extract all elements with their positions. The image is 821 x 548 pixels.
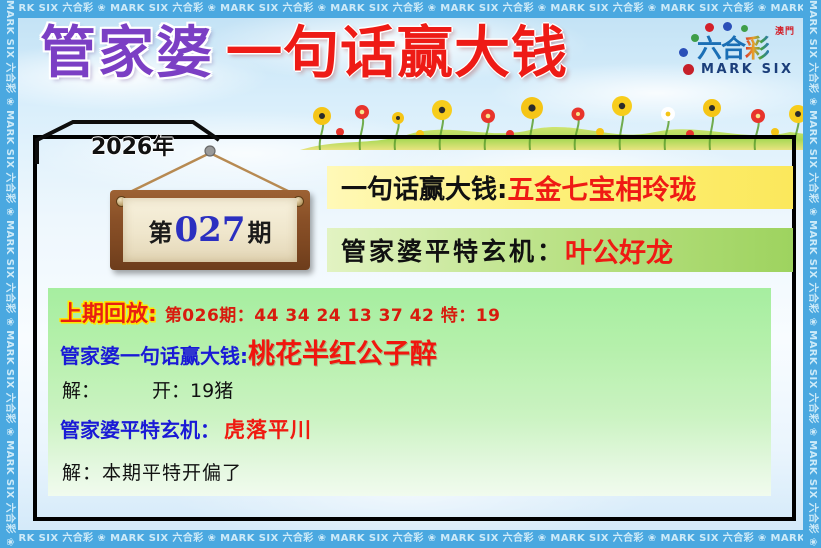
- logo-macau-label: 澳門: [775, 24, 795, 37]
- banner-tips-label: 管家婆平特玄机：: [341, 232, 565, 268]
- tips-history-value: 虎落平川: [224, 414, 312, 444]
- border-right: MARK SIX 六合彩 ❀ MARK SIX 六合彩 ❀ MARK SIX 六…: [803, 0, 821, 548]
- explanation-prefix-1: 解：: [62, 380, 100, 402]
- tips-history-row: 管家婆平特玄机： 虎落平川: [60, 414, 312, 444]
- banner-slogan: 一句话赢大钱: 五金七宝相玲珑: [327, 166, 793, 209]
- border-right-text: MARK SIX 六合彩 ❀ MARK SIX 六合彩 ❀ MARK SIX 六…: [803, 0, 821, 548]
- poster-title: 管家婆 一句话赢大钱: [40, 26, 568, 82]
- banner-tips-value: 叶公好龙: [565, 231, 673, 270]
- logo-dot-blue-1: [723, 22, 732, 31]
- tips-history-label: 管家婆平特玄机：: [60, 414, 220, 443]
- previous-draw-numbers: 第026期：44 34 24 13 37 42 特：19: [165, 301, 501, 326]
- previous-draw-row: 上期回放: 第026期：44 34 24 13 37 42 特：19: [60, 296, 500, 328]
- slogan-history-value: 桃花半红公子醉: [248, 332, 437, 371]
- issue-paper: 第 027 期: [123, 198, 297, 262]
- border-left: MARK SIX 六合彩 ❀ MARK SIX 六合彩 ❀ MARK SIX 六…: [0, 0, 18, 548]
- logo-dot-green-1: [741, 25, 748, 32]
- logo-dot-red-1: [705, 23, 714, 32]
- explanation-value-1: 开：19猪: [152, 380, 233, 402]
- border-left-text: MARK SIX 六合彩 ❀ MARK SIX 六合彩 ❀ MARK SIX 六…: [0, 0, 18, 548]
- logo-chinese-name: 六合彩: [697, 36, 769, 61]
- mark-six-logo[interactable]: 澳門 六合彩 MARK SIX: [677, 22, 797, 80]
- explanation-row-1: 解：开：19猪: [62, 376, 233, 403]
- border-top: MARK SIX 六合彩 ❀ MARK SIX 六合彩 ❀ MARK SIX 六…: [0, 0, 821, 18]
- year-tag: 2026年: [33, 118, 233, 172]
- logo-english-name: MARK SIX: [701, 62, 794, 77]
- banner-tips: 管家婆平特玄机： 叶公好龙: [327, 228, 793, 272]
- poster-root: 管家婆 一句话赢大钱 澳門 六合彩 MARK SIX 2026年: [0, 0, 821, 548]
- year-tag-label: 2026年: [91, 129, 174, 161]
- logo-dot-blue-2: [679, 48, 688, 57]
- logo-dot-red-2: [683, 64, 694, 75]
- explanation-row-2: 解：本期平特开偏了: [62, 458, 242, 485]
- banner-slogan-value: 五金七宝相玲珑: [507, 168, 696, 207]
- slogan-history-label: 管家婆一句话赢大钱:: [60, 340, 248, 369]
- previous-draw-label: 上期回放:: [60, 296, 157, 328]
- title-brand-text: 管家婆: [40, 26, 214, 82]
- border-bottom-text: MARK SIX 六合彩 ❀ MARK SIX 六合彩 ❀ MARK SIX 六…: [0, 530, 821, 548]
- title-slogan-text: 一句话赢大钱: [226, 26, 568, 82]
- issue-number: 027: [175, 210, 246, 250]
- wooden-board: 第 027 期: [110, 190, 310, 270]
- results-panel: 上期回放: 第026期：44 34 24 13 37 42 特：19 管家婆一句…: [48, 288, 771, 496]
- issue-prefix: 第: [149, 213, 173, 248]
- issue-suffix: 期: [247, 213, 271, 248]
- border-top-text: MARK SIX 六合彩 ❀ MARK SIX 六合彩 ❀ MARK SIX 六…: [0, 0, 821, 18]
- border-bottom: MARK SIX 六合彩 ❀ MARK SIX 六合彩 ❀ MARK SIX 六…: [0, 530, 821, 548]
- banner-slogan-label: 一句话赢大钱:: [341, 169, 507, 206]
- slogan-history-row: 管家婆一句话赢大钱: 桃花半红公子醉: [60, 332, 437, 371]
